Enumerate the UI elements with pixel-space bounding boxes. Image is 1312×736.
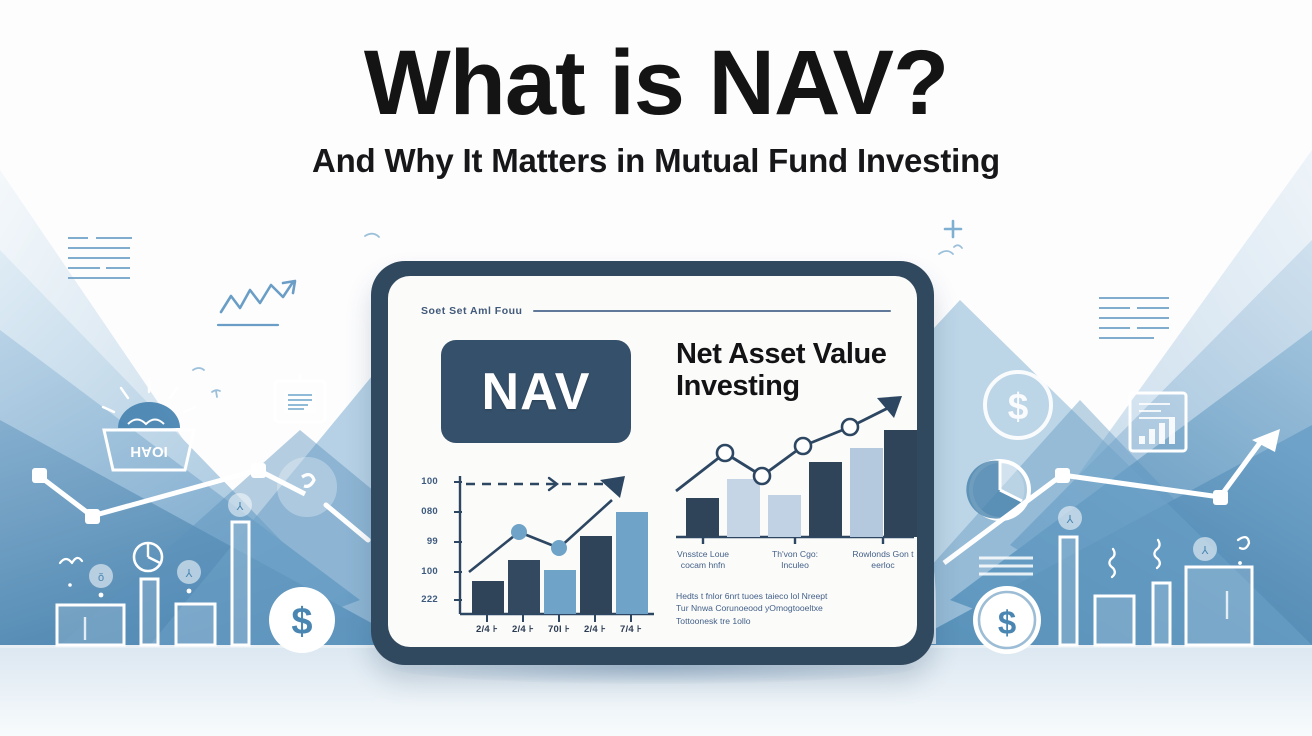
nav-badge: NAV <box>441 340 631 443</box>
ytick-2: 99 <box>410 536 438 547</box>
screen-header-text: Soet Set Aml Fouu <box>421 305 522 317</box>
bar-left-3 <box>580 536 612 614</box>
bar-left-2 <box>544 570 576 614</box>
tablet-device: Soet Set Aml Fouu NAV Net Asset Value In… <box>371 261 934 665</box>
group-label-2: Rowlonds Gon t eerloc <box>846 549 917 571</box>
marker-right-2 <box>795 438 811 454</box>
chart-right: Vnsstce Loue cocam hnfn Th'von Cgo: Incu… <box>670 394 917 644</box>
bar-left-1 <box>508 560 540 614</box>
ytick-3: 100 <box>410 566 438 577</box>
chart-right-caption: Hedts t fnlor 6nrt tuoes taieco lol Nree… <box>676 590 906 627</box>
marker-right-3 <box>842 419 858 435</box>
bar-right-3 <box>809 462 842 537</box>
ytick-4: 222 <box>410 594 438 605</box>
ytick-0: 100 <box>410 476 438 487</box>
chart-left: 100 080 99 100 222 2/4 ⊦ 2/4 ⊦ 70l ⊦ 2/4… <box>416 472 668 642</box>
bar-right-5 <box>884 430 917 537</box>
nav-badge-label: NAV <box>482 362 591 422</box>
screen-header: Soet Set Aml Fouu <box>421 304 891 318</box>
bar-right-4 <box>850 448 883 537</box>
bar-left-0 <box>472 581 504 614</box>
xtick-4: 7/4 ⊦ <box>614 624 648 635</box>
marker-right-1 <box>754 468 770 484</box>
marker-left-1 <box>551 540 567 556</box>
xtick-0: 2/4 ⊦ <box>470 624 504 635</box>
page-subtitle: And Why It Matters in Mutual Fund Invest… <box>0 142 1312 180</box>
title-block: What is NAV? And Why It Matters in Mutua… <box>0 38 1312 180</box>
bar-right-2 <box>768 495 801 537</box>
marker-left-0 <box>511 524 527 540</box>
bar-right-1 <box>727 479 760 537</box>
ytick-1: 080 <box>410 506 438 517</box>
tablet-screen: Soet Set Aml Fouu NAV Net Asset Value In… <box>388 276 917 647</box>
screen-header-rule <box>533 310 891 312</box>
group-label-0: Vnsstce Loue cocam hnfn <box>666 549 740 571</box>
bar-left-4 <box>616 512 648 614</box>
marker-right-0 <box>717 445 733 461</box>
bar-right-0 <box>686 498 719 537</box>
page-title: What is NAV? <box>0 38 1312 128</box>
xtick-1: 2/4 ⊦ <box>506 624 540 635</box>
xtick-3: 2/4 ⊦ <box>578 624 612 635</box>
poster-canvas: IOAH <box>0 0 1312 736</box>
group-label-1: Th'von Cgo: Inculeo <box>758 549 832 571</box>
xtick-2: 70l ⊦ <box>542 624 576 635</box>
chart-left-svg <box>416 472 668 642</box>
